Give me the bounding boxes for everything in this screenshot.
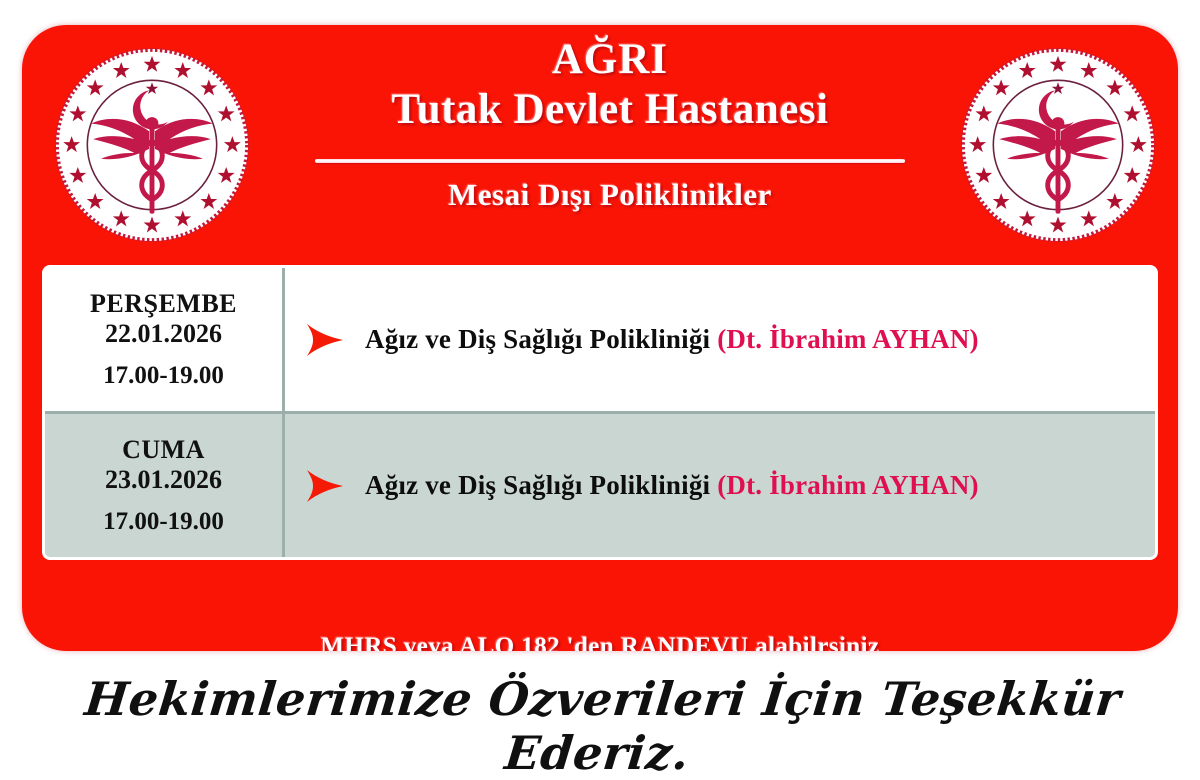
schedule-when-cell: CUMA 23.01.2026 17.00-19.00 [45, 414, 285, 557]
schedule-day: PERŞEMBE [90, 289, 237, 318]
doctor-name: (Dt. İbrahim AYHAN) [717, 470, 979, 500]
doctor-name: (Dt. İbrahim AYHAN) [717, 324, 979, 354]
red-arrow-icon [303, 320, 347, 360]
ministry-of-health-emblem-left [54, 47, 250, 243]
schedule-date: 22.01.2026 [105, 319, 222, 348]
clinic-label: Ağız ve Diş Sağlığı Polikliniği (Dt. İbr… [365, 324, 979, 355]
schedule-time: 17.00-19.00 [103, 362, 224, 390]
poster-subtitle: Mesai Dışı Poliklinikler [272, 177, 948, 213]
thanks-message: Hekimlerimize Özverileri İçin Teşekkür E… [0, 672, 1200, 780]
schedule-date: 23.01.2026 [105, 465, 222, 494]
red-arrow-icon [303, 466, 347, 506]
schedule-row: CUMA 23.01.2026 17.00-19.00 Ağız ve Diş … [45, 411, 1155, 557]
poster-header: AĞRI Tutak Devlet Hastanesi Mesai Dışı P… [272, 37, 948, 213]
schedule-when-cell: PERŞEMBE 22.01.2026 17.00-19.00 [45, 268, 285, 411]
schedule-time: 17.00-19.00 [103, 508, 224, 536]
city-title: AĞRI [272, 37, 948, 83]
schedule-what-cell: Ağız ve Diş Sağlığı Polikliniği (Dt. İbr… [285, 414, 1155, 557]
schedule-row: PERŞEMBE 22.01.2026 17.00-19.00 Ağız ve … [45, 268, 1155, 411]
title-divider [315, 159, 905, 163]
poster-panel: AĞRI Tutak Devlet Hastanesi Mesai Dışı P… [22, 25, 1178, 651]
schedule-day: CUMA [122, 435, 205, 464]
schedule-what-cell: Ağız ve Diş Sağlığı Polikliniği (Dt. İbr… [285, 268, 1155, 411]
appointment-note: MHRS veya ALO 182 'den RANDEVU alabilrsi… [22, 633, 1178, 651]
ministry-of-health-emblem-right [960, 47, 1156, 243]
clinic-label: Ağız ve Diş Sağlığı Polikliniği (Dt. İbr… [365, 470, 979, 501]
hospital-title: Tutak Devlet Hastanesi [272, 83, 948, 137]
clinic-name: Ağız ve Diş Sağlığı Polikliniği [365, 470, 710, 500]
clinic-name: Ağız ve Diş Sağlığı Polikliniği [365, 324, 710, 354]
schedule-table: PERŞEMBE 22.01.2026 17.00-19.00 Ağız ve … [45, 268, 1155, 557]
